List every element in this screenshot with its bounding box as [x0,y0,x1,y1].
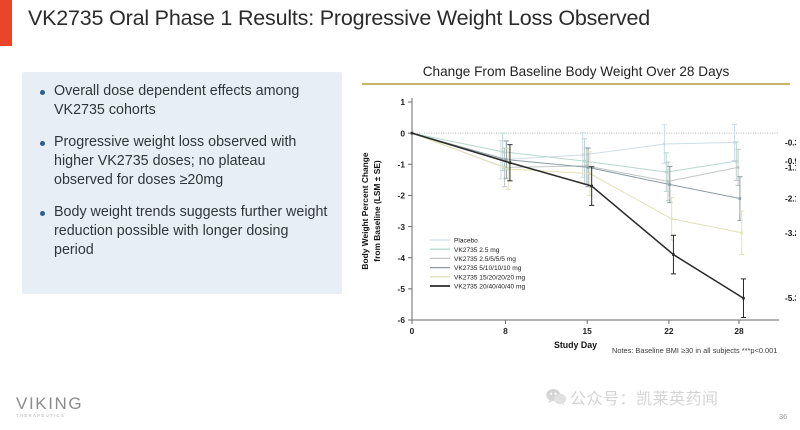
endpoint-label-4: -3.2 % [785,229,796,238]
bullet-text: Progressive weight loss observed with hi… [54,133,328,190]
x-axis-tick-label: 0 [410,326,415,336]
legend-label-0: Placebo [454,238,478,245]
x-axis-tick-label: 15 [583,326,593,336]
y-axis-title-line1: Body Weight Percent Change [360,152,370,269]
bullet-dot-icon [40,141,45,146]
legend-label-3: VK2735 5/10/10/10 mg [454,265,522,272]
endpoint-label-3: -2.1 % [785,195,796,204]
y-axis-tick-label: -1 [398,159,406,169]
list-item: Body weight trends suggests further weig… [32,203,328,260]
chart-title: Change From Baseline Body Weight Over 28… [356,62,796,79]
key-points-panel: Overall dose dependent effects among VK2… [22,72,342,294]
page-number: 36 [779,412,787,421]
series-1 [411,132,739,192]
bullet-text: Overall dose dependent effects among VK2… [54,82,328,120]
y-axis-tick-label: -2 [398,191,406,201]
series-4 [411,132,745,255]
series-0 [411,124,737,179]
y-axis-tick-label: -5 [398,284,406,294]
logo-wordmark: VIKING [16,395,83,412]
y-axis-tick-label: 0 [400,128,405,138]
y-axis-tick-label: -6 [398,315,406,325]
page-title: VK2735 Oral Phase 1 Results: Progressive… [28,6,788,31]
bullet-text: Body weight trends suggests further weig… [54,203,328,260]
y-axis-tick-label: -4 [398,253,406,263]
legend-label-5: VK2735 20/40/40/40 mg [454,284,525,291]
plot-area: 10-1-2-3-4-5-608152228Study DayBody Weig… [356,88,796,362]
list-item: Progressive weight loss observed with hi… [32,133,328,190]
endpoint-label-5: -5.3 %*** [785,294,796,303]
chart-title-rule [362,83,790,85]
y-axis-tick-label: 1 [400,97,405,107]
title-accent-bar [0,0,12,46]
legend-label-1: VK2735 2.5 mg [454,247,500,254]
legend-label-2: VK2735 2.5/5/5/5 mg [454,256,516,263]
watermark-text: 公众号：凯莱英药闻 [570,385,719,409]
line-chart-svg: 10-1-2-3-4-5-608152228Study DayBody Weig… [356,88,796,362]
endpoint-label-2: -1.1 % [785,163,796,172]
list-item: Overall dose dependent effects among VK2… [32,82,328,120]
legend-label-4: VK2735 15/20/20/20 mg [454,274,525,281]
chart-footnote: Notes: Baseline BMI ≥30 in all subjects … [612,346,777,355]
bullet-dot-icon [40,211,45,216]
bullet-dot-icon [40,90,45,95]
y-axis-title-line2: from Baseline (LSM ± SE) [372,160,382,262]
watermark: 公众号：凯莱英药闻 [546,385,719,409]
x-axis-tick-label: 22 [664,326,674,336]
y-axis-tick-label: -3 [398,222,406,232]
logo-tagline: THERAPEUTICS [16,413,83,418]
viking-logo: VIKING THERAPEUTICS [16,395,83,418]
x-axis-tick-label: 8 [503,326,508,336]
endpoint-label-0: -0.3 % [785,138,796,147]
x-axis-tick-label: 28 [734,326,744,336]
wechat-icon [546,388,567,406]
slide-canvas: VK2735 Oral Phase 1 Results: Progressive… [0,0,800,430]
chart-container: Change From Baseline Body Weight Over 28… [356,62,796,362]
x-axis-title: Study Day [554,340,597,350]
